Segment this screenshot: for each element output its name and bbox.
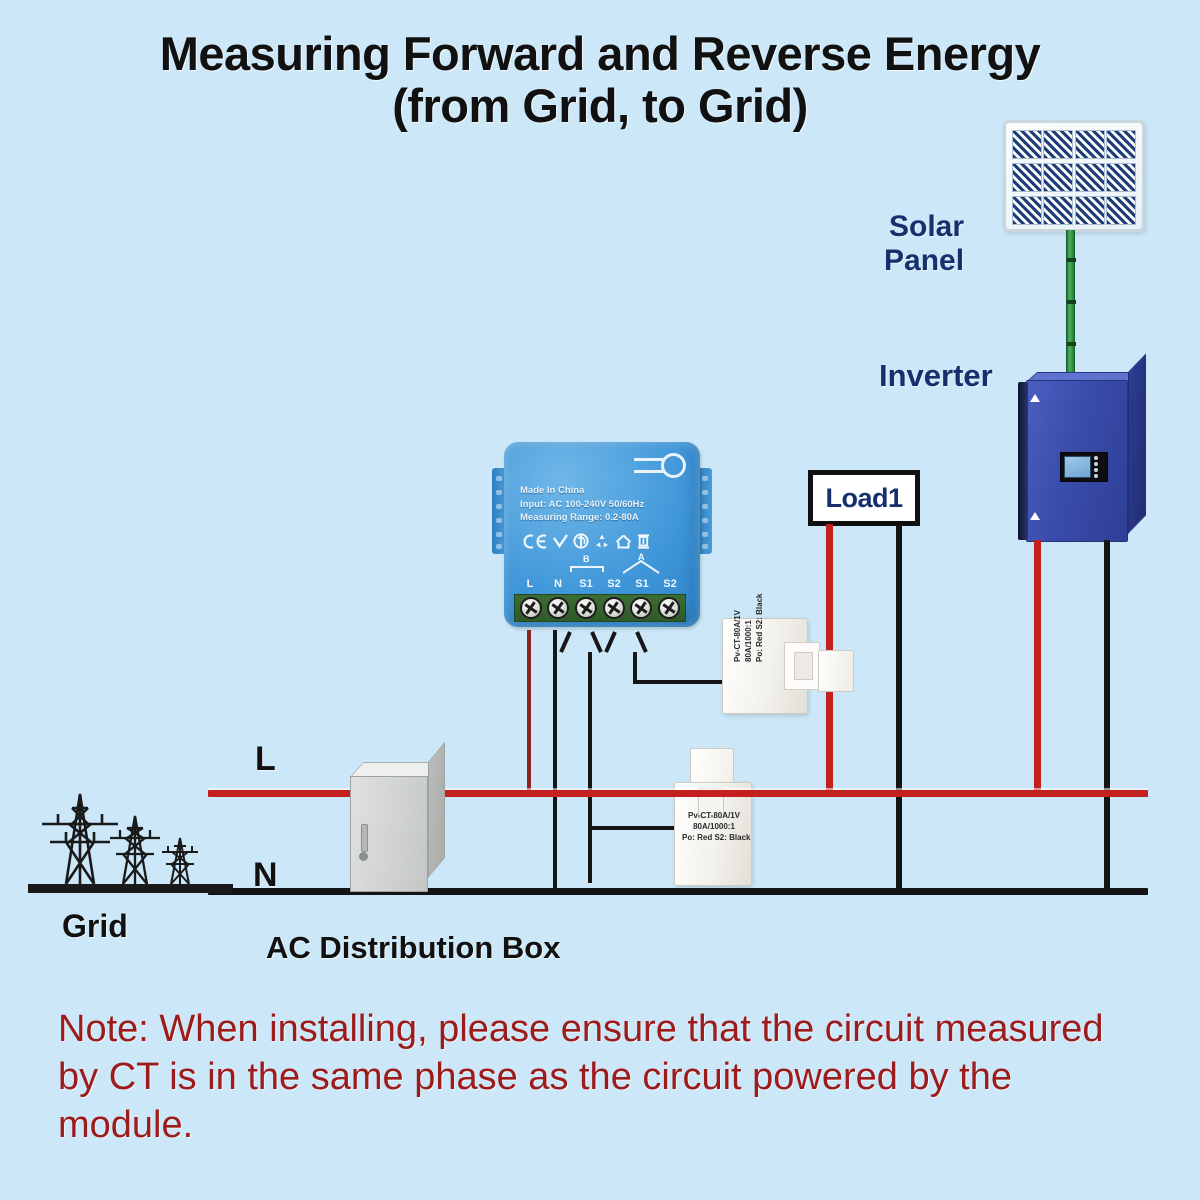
- solar-panel-row: [1012, 130, 1136, 160]
- tower-large: [42, 794, 118, 884]
- wire-ct-b-signal-lead: [588, 826, 676, 830]
- solar-cell: [1075, 196, 1105, 225]
- module-mounting-tab-right: [698, 468, 712, 554]
- module-group-b-label: B: [583, 554, 590, 564]
- ct-sensor-b: Pv-CT-80A/1V 80A/1000:1 Po: Red S2: Blac…: [668, 748, 758, 888]
- busbar-live: [208, 790, 1148, 797]
- inverter-indicator-leds: [1094, 456, 1098, 478]
- tower-small: [162, 838, 198, 884]
- inverter-label: Inverter: [879, 358, 993, 394]
- inverter-side-face: [1128, 353, 1146, 534]
- inverter-lcd-screen: [1064, 456, 1091, 478]
- terminal-screw: [520, 597, 542, 619]
- ac-distribution-box: [350, 762, 446, 892]
- house-icon: [615, 534, 632, 549]
- module-terminal-strip: [514, 594, 686, 622]
- grid-label: Grid: [62, 908, 128, 945]
- terminal-screw: [547, 597, 569, 619]
- led-indicator: [1094, 462, 1098, 466]
- module-spec-text: Made In China Input: AC 100-240V 50/60Hz…: [520, 484, 678, 525]
- solar-cell: [1012, 130, 1042, 159]
- solar-cell: [1012, 196, 1042, 225]
- terminal-label-b-s1: S1: [572, 578, 600, 590]
- weee-bin-icon: [637, 533, 650, 549]
- terminal-label-b-s2: S2: [600, 578, 628, 590]
- inverter: [1012, 372, 1148, 544]
- line-live-label: L: [255, 740, 276, 779]
- inverter-arrow-down-icon: [1030, 512, 1040, 520]
- terminal-label-a-s2: S2: [656, 578, 684, 590]
- solar-panel-row: [1012, 163, 1136, 193]
- solar-cell: [1106, 196, 1136, 225]
- cable-segment: [1067, 300, 1076, 304]
- module-spec-line-1: Made In China: [520, 484, 678, 498]
- module-group-a-bracket: [622, 560, 660, 574]
- ct-sensor-a-text-line-1: Pv-CT-80A/1V: [732, 594, 743, 662]
- grid-towers: [28, 778, 233, 890]
- ct-sensor-a-aperture: [794, 652, 813, 680]
- solar-cell: [1043, 163, 1073, 192]
- led-indicator: [1094, 474, 1098, 478]
- solar-cell: [1075, 130, 1105, 159]
- terminal-label-n: N: [544, 578, 572, 590]
- ct-sensor-b-text-line-1: Pv-CT-80A/1V: [682, 810, 746, 821]
- terminal-label-l: L: [516, 578, 544, 590]
- ac-box-handle: [361, 824, 368, 852]
- wire-module-l-terminal: [527, 630, 531, 795]
- page-title-line-1: Measuring Forward and Reverse Energy: [0, 28, 1200, 80]
- ct-sensor-b-text-line-2: 80A/1000:1: [682, 821, 746, 832]
- ct-sensor-a-text-line-2: 80A/1000:1: [743, 594, 754, 662]
- solar-cell: [1106, 130, 1136, 159]
- module-keyhole-slot-icon: [634, 453, 686, 479]
- terminal-screw: [658, 597, 680, 619]
- inverter-heatsink-rail: [1018, 382, 1028, 540]
- solar-panel-dc-cable: [1066, 230, 1075, 376]
- grid-ground-line: [28, 884, 233, 893]
- ct-sensor-a-text-line-3: Po: Red S2: Black: [754, 594, 765, 662]
- load1-label: Load1: [825, 483, 902, 514]
- led-indicator: [1094, 456, 1098, 460]
- solar-cell: [1106, 163, 1136, 192]
- ce-mark-icon: [522, 534, 548, 549]
- solar-cell: [1012, 163, 1042, 192]
- terminal-label-a-s1: S1: [628, 578, 656, 590]
- page-title: Measuring Forward and Reverse Energy (fr…: [0, 28, 1200, 132]
- terminal-screw: [603, 597, 625, 619]
- wire-module-n-terminal: [553, 630, 557, 893]
- module-spec-line-3: Measuring Range: 0.2-80A: [520, 511, 678, 525]
- module-group-b-bracket: [570, 566, 604, 572]
- recycling-icon: [594, 533, 610, 549]
- busbar-neutral: [208, 888, 1148, 895]
- load1-box: Load1: [808, 470, 920, 526]
- tower-medium: [110, 816, 160, 884]
- wire-ct-a-signal-lead: [633, 680, 729, 684]
- solar-panel-row: [1012, 196, 1136, 226]
- ac-box-lock: [359, 852, 368, 861]
- cable-segment: [1067, 258, 1076, 262]
- ac-distribution-box-label: AC Distribution Box: [266, 930, 561, 966]
- terminal-screw: [575, 597, 597, 619]
- terminal-screw: [630, 597, 652, 619]
- wire-inverter-live: [1034, 540, 1041, 793]
- ct-sensor-a-text: Pv-CT-80A/1V 80A/1000:1 Po: Red S2: Blac…: [732, 594, 765, 662]
- circular-arrow-icon: [573, 533, 589, 549]
- solar-panel-label: Solar Panel: [884, 210, 964, 278]
- solar-cell: [1075, 163, 1105, 192]
- ct-sensor-a-clip: [818, 650, 854, 692]
- wire-ct-b-signal-trunk: [588, 652, 592, 883]
- ac-box-side-face: [428, 742, 445, 878]
- module-certification-icons: [522, 530, 674, 552]
- solar-cell: [1043, 130, 1073, 159]
- cable-segment: [1067, 342, 1076, 346]
- module-spec-line-2: Input: AC 100-240V 50/60Hz: [520, 498, 678, 512]
- wire-inverter-neutral: [1104, 540, 1110, 891]
- led-indicator: [1094, 468, 1098, 472]
- inverter-arrow-up-icon: [1030, 394, 1040, 402]
- checkmark-icon: [553, 534, 568, 549]
- solar-cell: [1043, 196, 1073, 225]
- inverter-display: [1060, 452, 1108, 482]
- energy-meter-module: Made In China Input: AC 100-240V 50/60Hz…: [492, 442, 712, 632]
- module-terminal-labels: L N S1 S2 S1 S2: [516, 578, 684, 590]
- installation-note: Note: When installing, please ensure tha…: [58, 1005, 1148, 1149]
- wire-load1-neutral: [896, 524, 902, 891]
- ct-sensor-a: Pv-CT-80A/1V 80A/1000:1 Po: Red S2: Blac…: [722, 618, 852, 718]
- solar-panel: [1003, 120, 1145, 232]
- ct-sensor-b-text: Pv-CT-80A/1V 80A/1000:1 Po: Red S2: Blac…: [682, 810, 746, 843]
- ct-sensor-b-text-line-3: Po: Red S2: Black: [682, 832, 746, 843]
- diagram-canvas: Measuring Forward and Reverse Energy (fr…: [0, 0, 1200, 1200]
